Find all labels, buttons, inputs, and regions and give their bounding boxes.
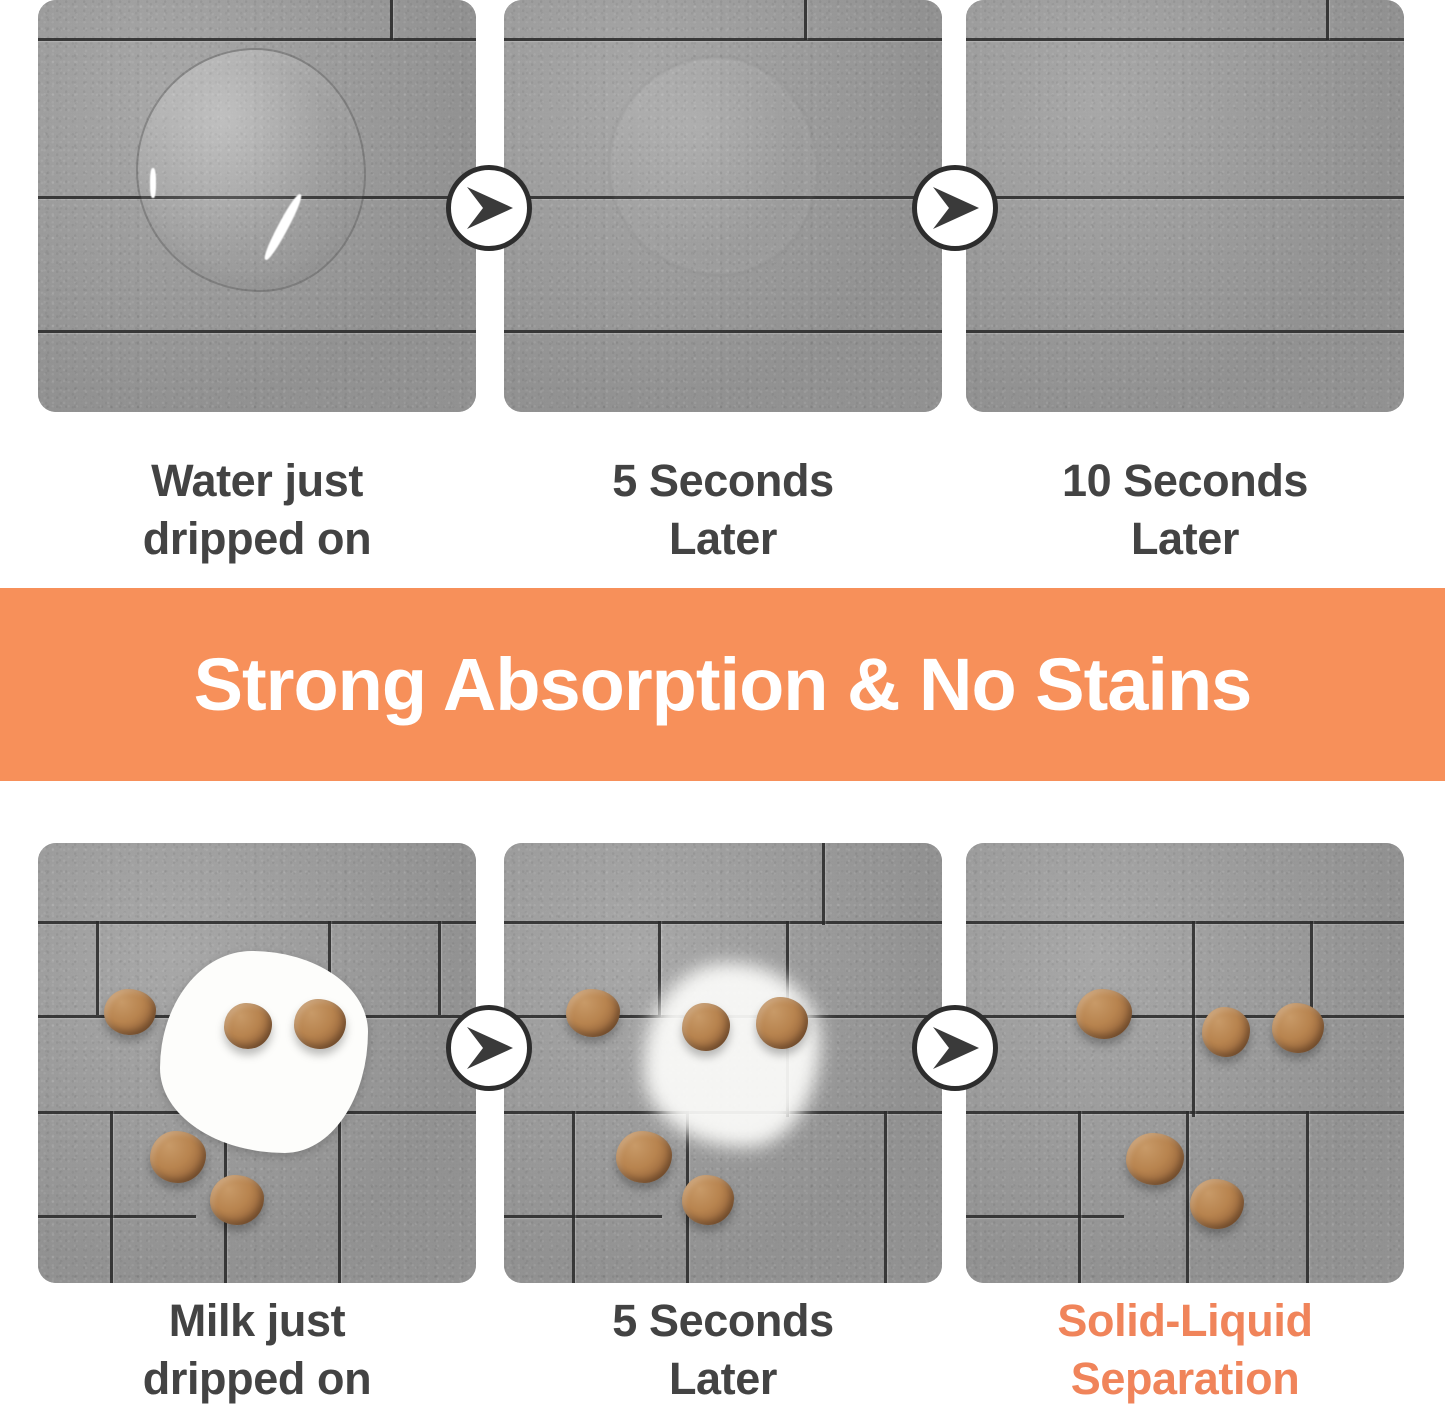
chevron-right-arrow-glyph	[927, 1025, 983, 1071]
caption-line: Milk just	[38, 1292, 476, 1350]
caption-water-10s: 10 Seconds Later	[966, 452, 1404, 567]
caption-line: Water just	[38, 452, 476, 510]
seam-line	[504, 330, 942, 333]
mat-surface	[966, 0, 1404, 412]
seam-line	[966, 921, 1404, 924]
milk-spill-absorbing	[644, 963, 820, 1147]
seam-line	[1186, 1111, 1189, 1283]
chevron-right-arrow-glyph	[927, 185, 983, 231]
panel-water-10s	[966, 0, 1404, 412]
panel-water-dripped	[38, 0, 476, 412]
panel-milk-separated	[966, 843, 1404, 1283]
seam-line	[38, 330, 476, 333]
seam-line	[504, 38, 942, 41]
caption-line: dripped on	[38, 510, 476, 568]
seam-line	[572, 1111, 575, 1283]
caption-water-5s: 5 Seconds Later	[504, 452, 942, 567]
caption-line: dripped on	[38, 1350, 476, 1407]
chevron-right-arrow-icon	[446, 1005, 532, 1091]
panel-milk-dripped	[38, 843, 476, 1283]
chevron-right-arrow-icon	[912, 1005, 998, 1091]
droplet-highlight	[150, 168, 156, 198]
caption-line: Later	[504, 1350, 942, 1407]
seam-line	[390, 0, 393, 40]
chevron-right-arrow-glyph	[461, 185, 517, 231]
seam-line	[966, 1215, 1124, 1218]
water-droplet	[138, 50, 364, 290]
chevron-right-arrow-icon	[912, 165, 998, 251]
caption-line: Solid-Liquid	[966, 1292, 1404, 1350]
seam-line	[1326, 0, 1329, 40]
seam-line	[966, 1111, 1404, 1114]
headline-banner: Strong Absorption & No Stains	[0, 588, 1445, 781]
seam-line	[966, 38, 1404, 41]
seam-line	[1192, 921, 1195, 1117]
caption-water-dripped: Water just dripped on	[38, 452, 476, 567]
panel-milk-5s	[504, 843, 942, 1283]
caption-milk-5s: 5 Seconds Later	[504, 1292, 942, 1407]
seam-line	[1306, 1111, 1309, 1283]
seam-line	[966, 196, 1404, 199]
caption-line: Later	[966, 510, 1404, 568]
seam-line	[96, 921, 99, 1015]
seam-line	[1078, 1111, 1081, 1283]
headline-text: Strong Absorption & No Stains	[194, 642, 1252, 727]
seam-line	[884, 1111, 887, 1283]
droplet-highlight	[261, 192, 305, 262]
seam-line	[38, 921, 476, 924]
caption-line: Later	[504, 510, 942, 568]
seam-line	[38, 1215, 196, 1218]
seam-line	[1310, 921, 1313, 1017]
water-droplet-fading	[610, 58, 816, 274]
seam-line	[822, 843, 825, 925]
seam-line	[504, 921, 942, 924]
seam-line	[38, 38, 476, 41]
caption-line: Separation	[966, 1350, 1404, 1407]
seam-line	[338, 1111, 341, 1283]
seam-line	[438, 921, 441, 1015]
caption-solid-liquid-separation: Solid-Liquid Separation	[966, 1292, 1404, 1407]
water-absorption-row	[0, 0, 1445, 412]
caption-line: 5 Seconds	[504, 452, 942, 510]
seam-line	[804, 0, 807, 40]
seam-line	[504, 1215, 662, 1218]
caption-line: 5 Seconds	[504, 1292, 942, 1350]
caption-line: 10 Seconds	[966, 452, 1404, 510]
milk-spill	[160, 951, 368, 1153]
chevron-right-arrow-icon	[446, 165, 532, 251]
milk-absorption-row	[0, 843, 1445, 1283]
seam-line	[966, 330, 1404, 333]
chevron-right-arrow-glyph	[461, 1025, 517, 1071]
panel-water-5s	[504, 0, 942, 412]
seam-line	[966, 1015, 1404, 1018]
caption-milk-dripped: Milk just dripped on	[38, 1292, 476, 1407]
seam-line	[110, 1111, 113, 1283]
